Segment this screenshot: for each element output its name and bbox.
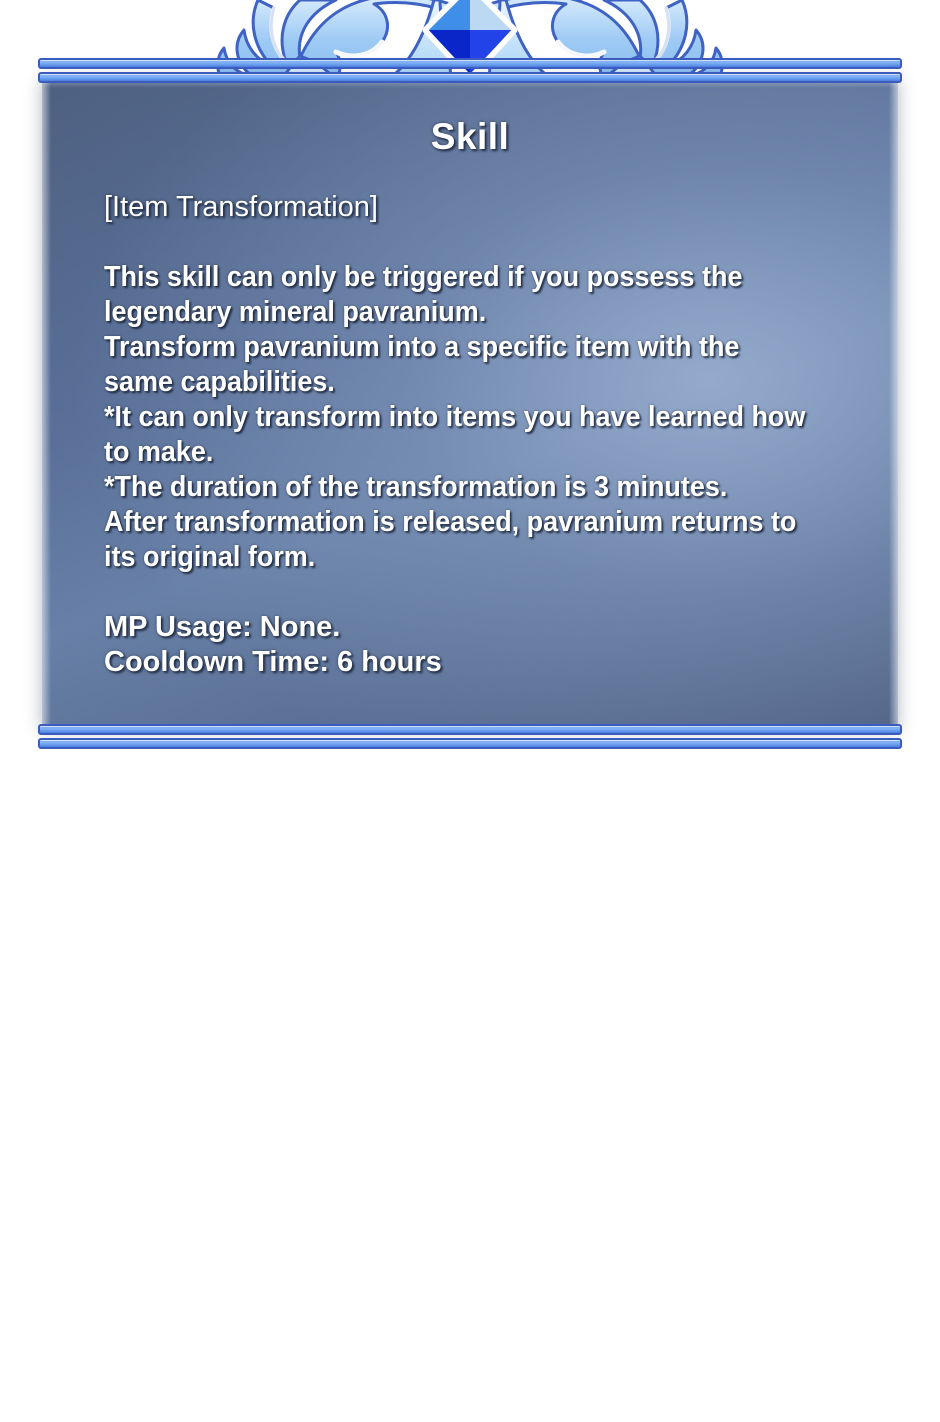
panel-title: Skill	[42, 116, 898, 158]
stat-cooldown-time: Cooldown Time: 6 hours	[104, 645, 894, 680]
description-line: Transform pavranium into a specific item…	[104, 330, 839, 365]
description-line: *It can only transform into items you ha…	[104, 400, 839, 435]
top-rail-lower	[38, 72, 902, 83]
skill-description-block: This skill can only be triggered if you …	[104, 260, 894, 575]
skill-name-heading: [Item Transformation]	[104, 190, 894, 225]
description-line: to make.	[104, 435, 839, 470]
description-line: same capabilities.	[104, 365, 839, 400]
description-line: legendary mineral pavranium.	[104, 295, 839, 330]
panel-top-rails	[38, 58, 902, 84]
bottom-rail-lower	[38, 738, 902, 749]
bottom-rail-upper	[38, 724, 902, 735]
skill-panel: Skill [Item Transformation] This skill c…	[42, 62, 898, 742]
panel-content: [Item Transformation] This skill can onl…	[104, 190, 894, 680]
spacer-1	[104, 225, 894, 260]
description-line: After transformation is released, pavran…	[104, 505, 839, 540]
description-line: This skill can only be triggered if you …	[104, 260, 839, 295]
description-line: *The duration of the transformation is 3…	[104, 470, 839, 505]
stat-mp-usage: MP Usage: None.	[104, 610, 894, 645]
panel-bottom-rails	[38, 724, 902, 750]
top-rail-upper	[38, 58, 902, 69]
description-line: its original form.	[104, 540, 839, 575]
skill-stats-block: MP Usage: None. Cooldown Time: 6 hours	[104, 610, 894, 680]
spacer-2	[104, 575, 894, 610]
